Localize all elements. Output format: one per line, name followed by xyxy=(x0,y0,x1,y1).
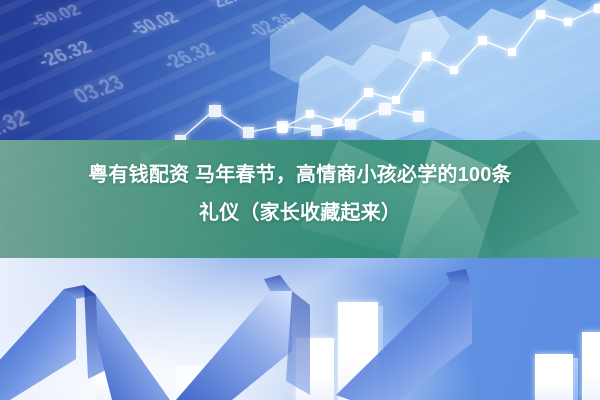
page-title: 粤有钱配资 马年春节，高情商小孩必学的100条 礼仪（家长收藏起来） xyxy=(0,156,600,232)
ticker-value: -02.36 xyxy=(111,0,168,5)
ticker-value: -26.32 xyxy=(157,38,222,75)
title-line-2: 礼仪（家长收藏起来） xyxy=(16,194,584,232)
ticker-value: -50.02 xyxy=(124,8,185,41)
zigzag-arrow-graphic xyxy=(0,255,600,400)
ticker-value: -02.36 xyxy=(6,0,62,2)
ticker-value: -50.02 xyxy=(26,1,85,33)
ticker-value: 03.23 xyxy=(69,70,131,110)
stock-market-banner-image: -03.25 -11.25 +45.02 21.36 -02.36 +45.02… xyxy=(0,0,600,400)
title-line-1: 粤有钱配资 马年春节，高情商小孩必学的100条 xyxy=(16,156,584,194)
ticker-value: -26.32 xyxy=(33,36,97,73)
ticker-value: 22.36 xyxy=(205,0,259,12)
